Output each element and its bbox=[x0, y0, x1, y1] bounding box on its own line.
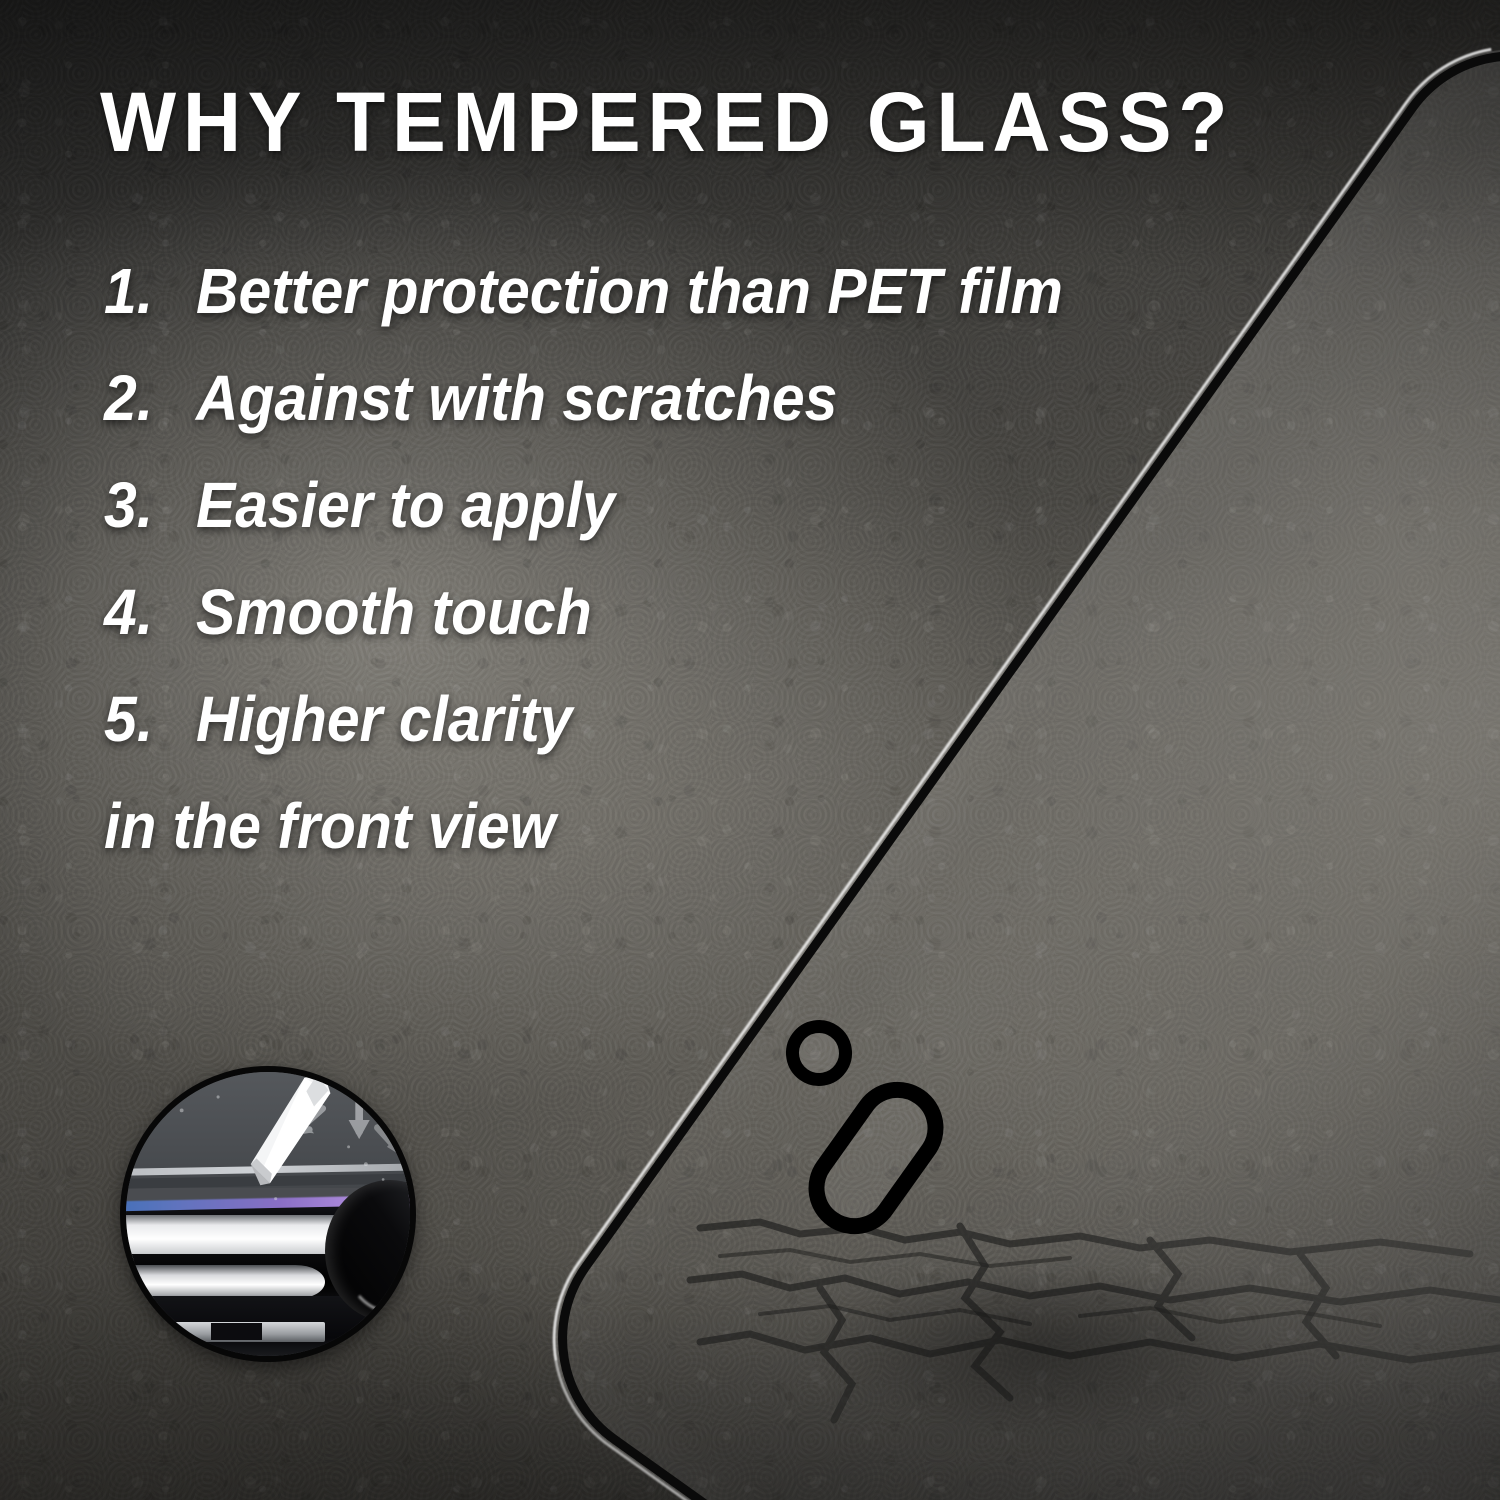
list-item-label: Higher clarity bbox=[196, 666, 572, 773]
list-item-continuation: in the front view bbox=[104, 773, 1284, 880]
list-item-number: 3. bbox=[104, 452, 189, 559]
list-item-number: 4. bbox=[104, 559, 189, 666]
arrow-down-icon bbox=[349, 1099, 370, 1139]
list-item-label: Against with scratches bbox=[196, 345, 837, 452]
product-feature-graphic: WHY TEMPERED GLASS? 1. Better protection… bbox=[0, 0, 1500, 1500]
list-item-continuation-label: in the front view bbox=[104, 773, 555, 880]
list-item-number: 5. bbox=[104, 666, 189, 773]
list-item: 1. Better protection than PET film bbox=[104, 238, 1284, 345]
list-item: 3. Easier to apply bbox=[104, 452, 1284, 559]
arrow-right-down-icon bbox=[377, 1128, 402, 1157]
scratch-resistance-detail-inset bbox=[120, 1066, 416, 1362]
list-item-number: 2. bbox=[104, 345, 189, 452]
list-item: 5. Higher clarity bbox=[104, 666, 1284, 773]
knife-blade-icon bbox=[251, 1072, 331, 1185]
list-item: 2. Against with scratches bbox=[104, 345, 1284, 452]
badge-overlay-art bbox=[126, 1072, 410, 1356]
list-item: 4. Smooth touch bbox=[104, 559, 1284, 666]
badge-content bbox=[126, 1072, 410, 1356]
list-item-label: Better protection than PET film bbox=[196, 238, 1063, 345]
list-item-label: Easier to apply bbox=[196, 452, 615, 559]
page-title: WHY TEMPERED GLASS? bbox=[100, 80, 1386, 164]
list-item-label: Smooth touch bbox=[196, 559, 592, 666]
feature-list: 1. Better protection than PET film 2. Ag… bbox=[104, 238, 1284, 880]
list-item-number: 1. bbox=[104, 238, 189, 345]
